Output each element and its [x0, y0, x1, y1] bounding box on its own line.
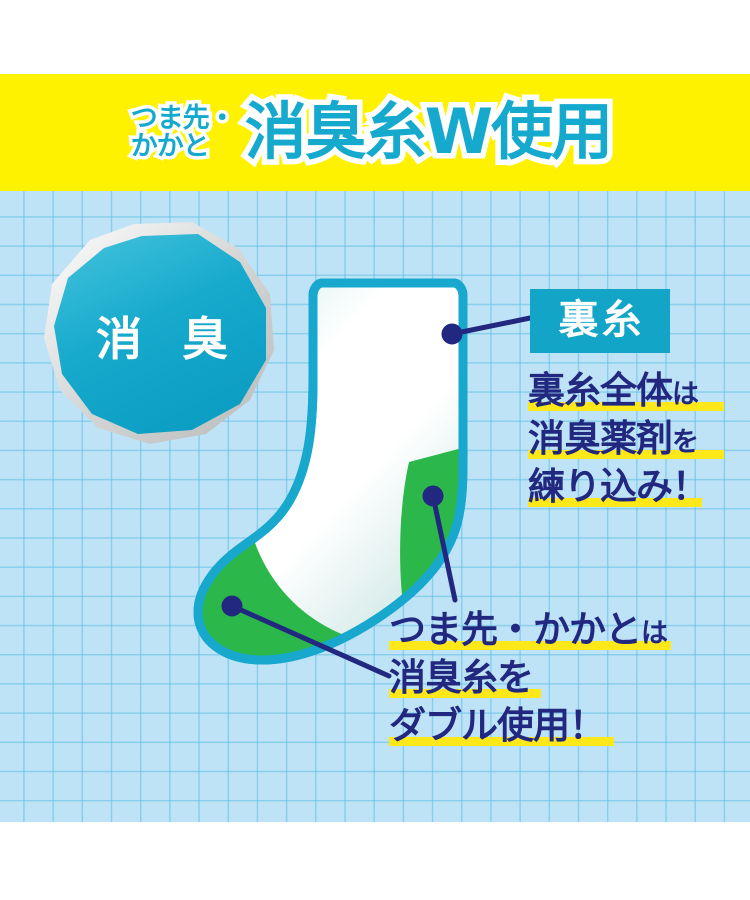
- back-yarn-tag-label: 裏糸: [556, 300, 645, 340]
- callout-text-main: 消臭糸を: [389, 659, 533, 696]
- infographic-page: つま先・ かかと 消臭糸W使用: [0, 0, 750, 900]
- callout-text-suffix: を: [672, 429, 698, 456]
- leader-dot-heel: [425, 488, 441, 504]
- callout-toe-heel: つま先・かかとは 消臭糸を ダブル使用！: [389, 611, 667, 755]
- callout-toe-heel-line-2: 消臭糸を: [389, 659, 667, 696]
- callout-text-suffix: は: [641, 620, 667, 647]
- callout-back-yarn: 裏糸全体は 消臭薬剤を 練り込み！: [528, 372, 708, 516]
- callout-text-main: 練り込み！: [528, 468, 708, 505]
- bottom-white-margin: [0, 822, 750, 900]
- back-yarn-tag: 裏糸: [530, 289, 670, 353]
- leader-line-toe: [232, 606, 389, 676]
- callout-toe-heel-line-3: ダブル使用！: [389, 707, 667, 744]
- callout-text-suffix: は: [672, 381, 698, 408]
- callout-text-main: ダブル使用！: [389, 707, 605, 744]
- callout-text-main: つま先・かかと: [389, 611, 641, 648]
- callout-back-yarn-line-3: 練り込み！: [528, 468, 708, 505]
- leader-line-heel: [433, 496, 455, 600]
- callout-toe-heel-line-1: つま先・かかとは: [389, 611, 667, 648]
- callout-back-yarn-line-1: 裏糸全体は: [528, 372, 708, 409]
- callout-back-yarn-line-2: 消臭薬剤を: [528, 420, 708, 457]
- callout-text-main: 裏糸全体: [528, 372, 672, 409]
- callout-text-main: 消臭薬剤: [528, 420, 672, 457]
- leader-dot-toe: [224, 598, 240, 614]
- leader-line-backyarn: [452, 318, 530, 334]
- leader-dot-backyarn: [444, 326, 460, 342]
